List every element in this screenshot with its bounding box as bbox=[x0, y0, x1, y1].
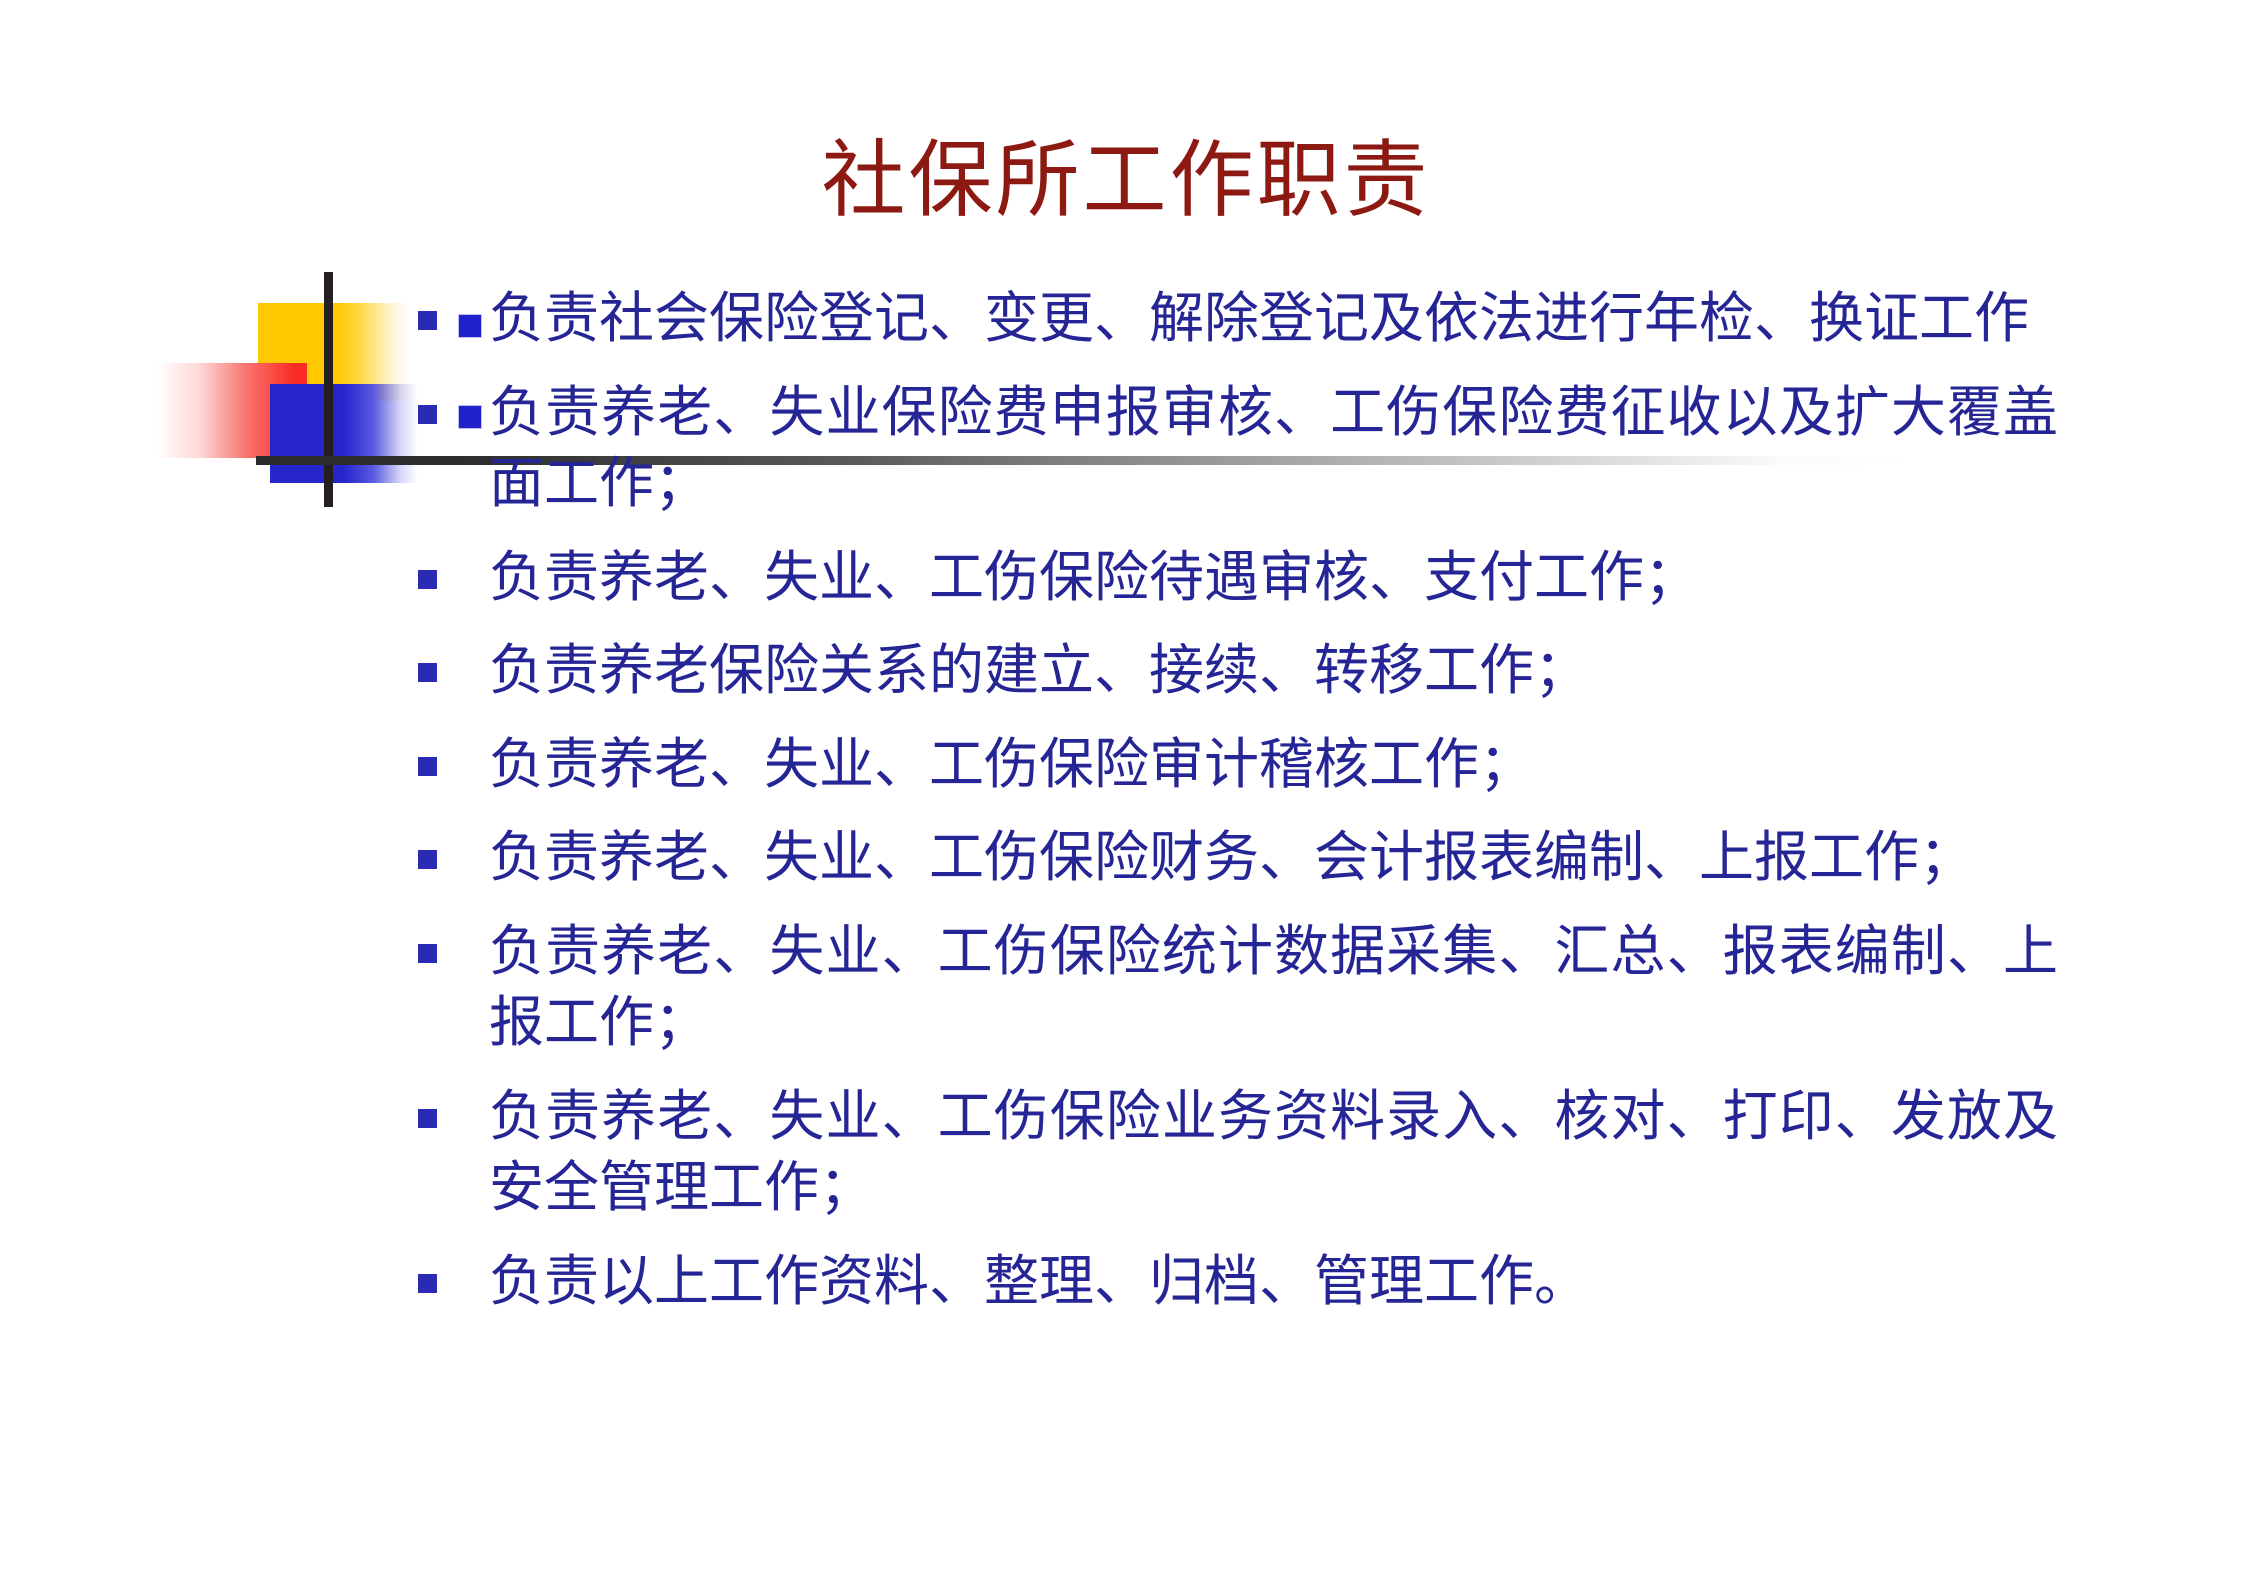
bullet-square-icon bbox=[418, 663, 437, 682]
list-item: 负责养老、失业、工伤保险业务资料录入、核对、打印、发放及安全管理工作； bbox=[418, 1081, 2058, 1224]
bullet-square-icon bbox=[418, 757, 437, 776]
red-square-decor bbox=[157, 363, 307, 458]
list-item: 负责养老、失业、工伤保险财务、会计报表编制、上报工作； bbox=[418, 822, 2058, 894]
list-item-text: 负责以上工作资料、整理、归档、管理工作。 bbox=[489, 1246, 2058, 1318]
yellow-square-decor bbox=[258, 303, 410, 401]
list-item-text: 负责养老、失业、工伤保险业务资料录入、核对、打印、发放及安全管理工作； bbox=[489, 1081, 2058, 1224]
list-item-text: 负责养老、失业、工伤保险财务、会计报表编制、上报工作； bbox=[489, 822, 2058, 894]
bullet-square-icon bbox=[418, 405, 437, 424]
list-item: 负责养老保险关系的建立、接续、转移工作； bbox=[418, 635, 2058, 707]
list-item-text: 负责养老、失业、工伤保险待遇审核、支付工作； bbox=[489, 542, 2058, 614]
list-item-text: 负责养老保险关系的建立、接续、转移工作； bbox=[489, 635, 2058, 707]
vertical-bar-decor bbox=[324, 272, 333, 507]
page-title: 社保所工作职责 bbox=[0, 138, 2252, 226]
list-item-text: 负责养老、失业保险费申报审核、工伤保险费征收以及扩大覆盖面工作； bbox=[489, 377, 2058, 520]
list-item: 负责养老、失业保险费申报审核、工伤保险费征收以及扩大覆盖面工作； bbox=[418, 377, 2058, 520]
list-item-text: 负责养老、失业、工伤保险审计稽核工作； bbox=[489, 729, 2058, 801]
list-item: 负责养老、失业、工伤保险审计稽核工作； bbox=[418, 729, 2058, 801]
list-item-text: 负责社会保险登记、变更、解除登记及依法进行年检、换证工作 bbox=[489, 283, 2058, 355]
bullet-square-icon bbox=[418, 944, 437, 963]
list-item: 负责以上工作资料、整理、归档、管理工作。 bbox=[418, 1246, 2058, 1318]
responsibilities-list: 负责社会保险登记、变更、解除登记及依法进行年检、换证工作 负责养老、失业保险费申… bbox=[418, 283, 2058, 1339]
bullet-square-icon bbox=[418, 1109, 437, 1128]
list-item-text: 负责养老、失业、工伤保险统计数据采集、汇总、报表编制、上报工作； bbox=[489, 916, 2058, 1059]
list-item: 负责养老、失业、工伤保险统计数据采集、汇总、报表编制、上报工作； bbox=[418, 916, 2058, 1059]
blue-square-decor bbox=[270, 384, 418, 483]
bullet-square-icon bbox=[418, 311, 437, 330]
list-item: 负责养老、失业、工伤保险待遇审核、支付工作； bbox=[418, 542, 2058, 614]
bullet-square-icon bbox=[418, 570, 437, 589]
slide-canvas: 社保所工作职责 负责社会保险登记、变更、解除登记及依法进行年检、换证工作 负责养… bbox=[0, 0, 2252, 1594]
list-item: 负责社会保险登记、变更、解除登记及依法进行年检、换证工作 bbox=[418, 283, 2058, 355]
bullet-square-icon bbox=[418, 1274, 437, 1293]
bullet-square-icon bbox=[418, 850, 437, 869]
